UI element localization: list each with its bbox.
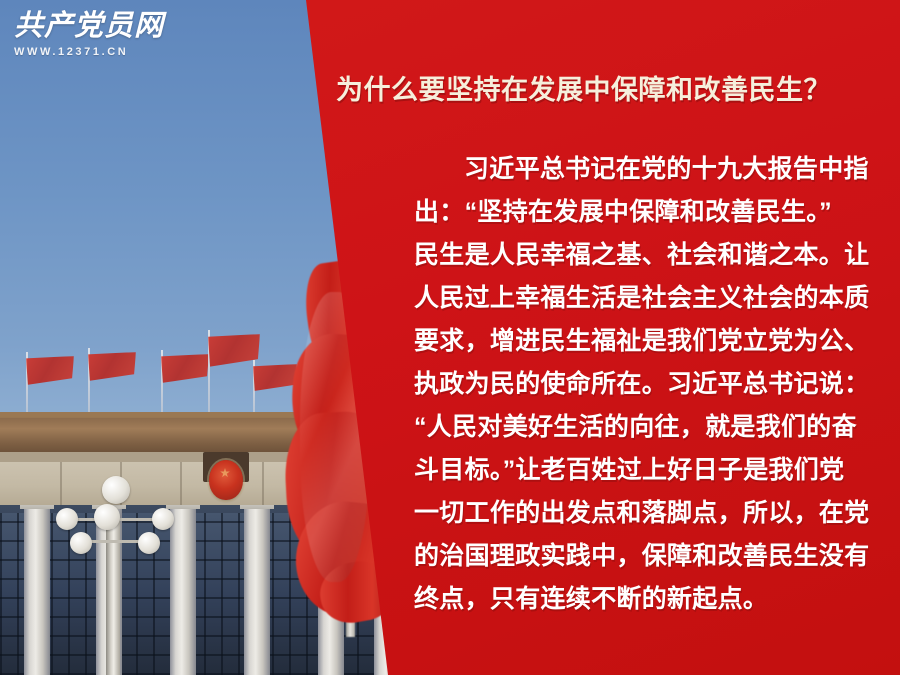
page-title: 为什么要坚持在发展中保障和改善民生？	[336, 74, 888, 106]
lamp-globe	[102, 476, 130, 504]
lamp-post	[106, 520, 120, 675]
lamp-globe	[56, 508, 78, 530]
lamp-globe	[70, 532, 92, 554]
poster-canvas: 共产党员网 WWW.12371.CN 为什么要坚持在发展中保障和改善民生？ 习近…	[0, 0, 900, 675]
body-line: 出：“坚持在发展中保障和改善民生。”	[414, 191, 884, 234]
column	[24, 505, 50, 675]
lamp-globe	[152, 508, 174, 530]
lamp-globe	[94, 504, 120, 530]
logo-wordmark: 共产党员网	[14, 12, 154, 41]
lamp-globe	[138, 532, 160, 554]
site-logo[interactable]: 共产党员网 WWW.12371.CN	[14, 12, 154, 58]
body-line: 的治国理政实践中，保障和改善民生没有	[414, 535, 884, 578]
body-line: 民生是人民幸福之基、社会和谐之本。让	[414, 234, 884, 277]
article-body: 习近平总书记在党的十九大报告中指 出：“坚持在发展中保障和改善民生。” 民生是人…	[414, 148, 884, 621]
body-line: 终点，只有连续不断的新起点。	[414, 578, 884, 621]
body-line: “人民对美好生活的向往，就是我们的奋	[414, 406, 884, 449]
body-line: 习近平总书记在党的十九大报告中指	[414, 148, 884, 191]
body-line: 要求，增进民生福祉是我们党立党为公、	[414, 320, 884, 363]
body-line: 执政为民的使命所在。习近平总书记说：	[414, 363, 884, 406]
national-emblem-icon	[203, 452, 249, 510]
column	[244, 505, 270, 675]
street-lamp	[48, 470, 178, 675]
emblem-disc	[209, 460, 243, 500]
body-line: 斗目标。”让老百姓过上好日子是我们党	[414, 449, 884, 492]
logo-url: WWW.12371.CN	[14, 46, 154, 58]
column-capital	[240, 505, 274, 509]
body-line: 一切工作的出发点和落脚点，所以，在党	[414, 492, 884, 535]
body-line: 人民过上幸福生活是社会主义社会的本质	[414, 277, 884, 320]
